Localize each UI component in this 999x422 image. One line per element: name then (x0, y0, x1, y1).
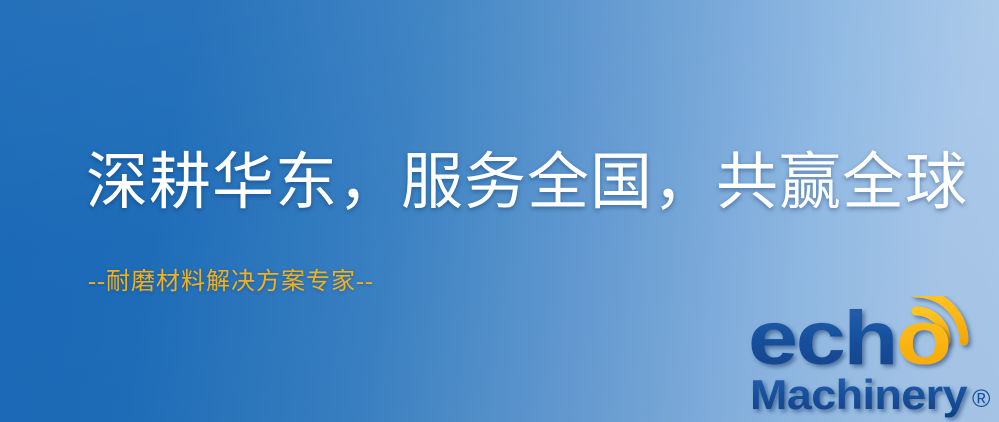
echo-machinery-logo: ech o Machinery ® (748, 296, 999, 422)
logo-wordmark-accent: o (896, 296, 952, 381)
banner-headline: 深耕华东，服务全国，共赢全球 (86, 152, 968, 214)
logo-wordmark-primary: ech (748, 296, 896, 381)
registered-trademark-icon: ® (972, 385, 991, 413)
logo-wordmark-secondary: Machinery (750, 371, 968, 418)
hero-banner: 深耕华东，服务全国，共赢全球 --耐磨材料解决方案专家-- (0, 0, 999, 422)
banner-subheadline: --耐磨材料解决方案专家-- (88, 270, 374, 294)
